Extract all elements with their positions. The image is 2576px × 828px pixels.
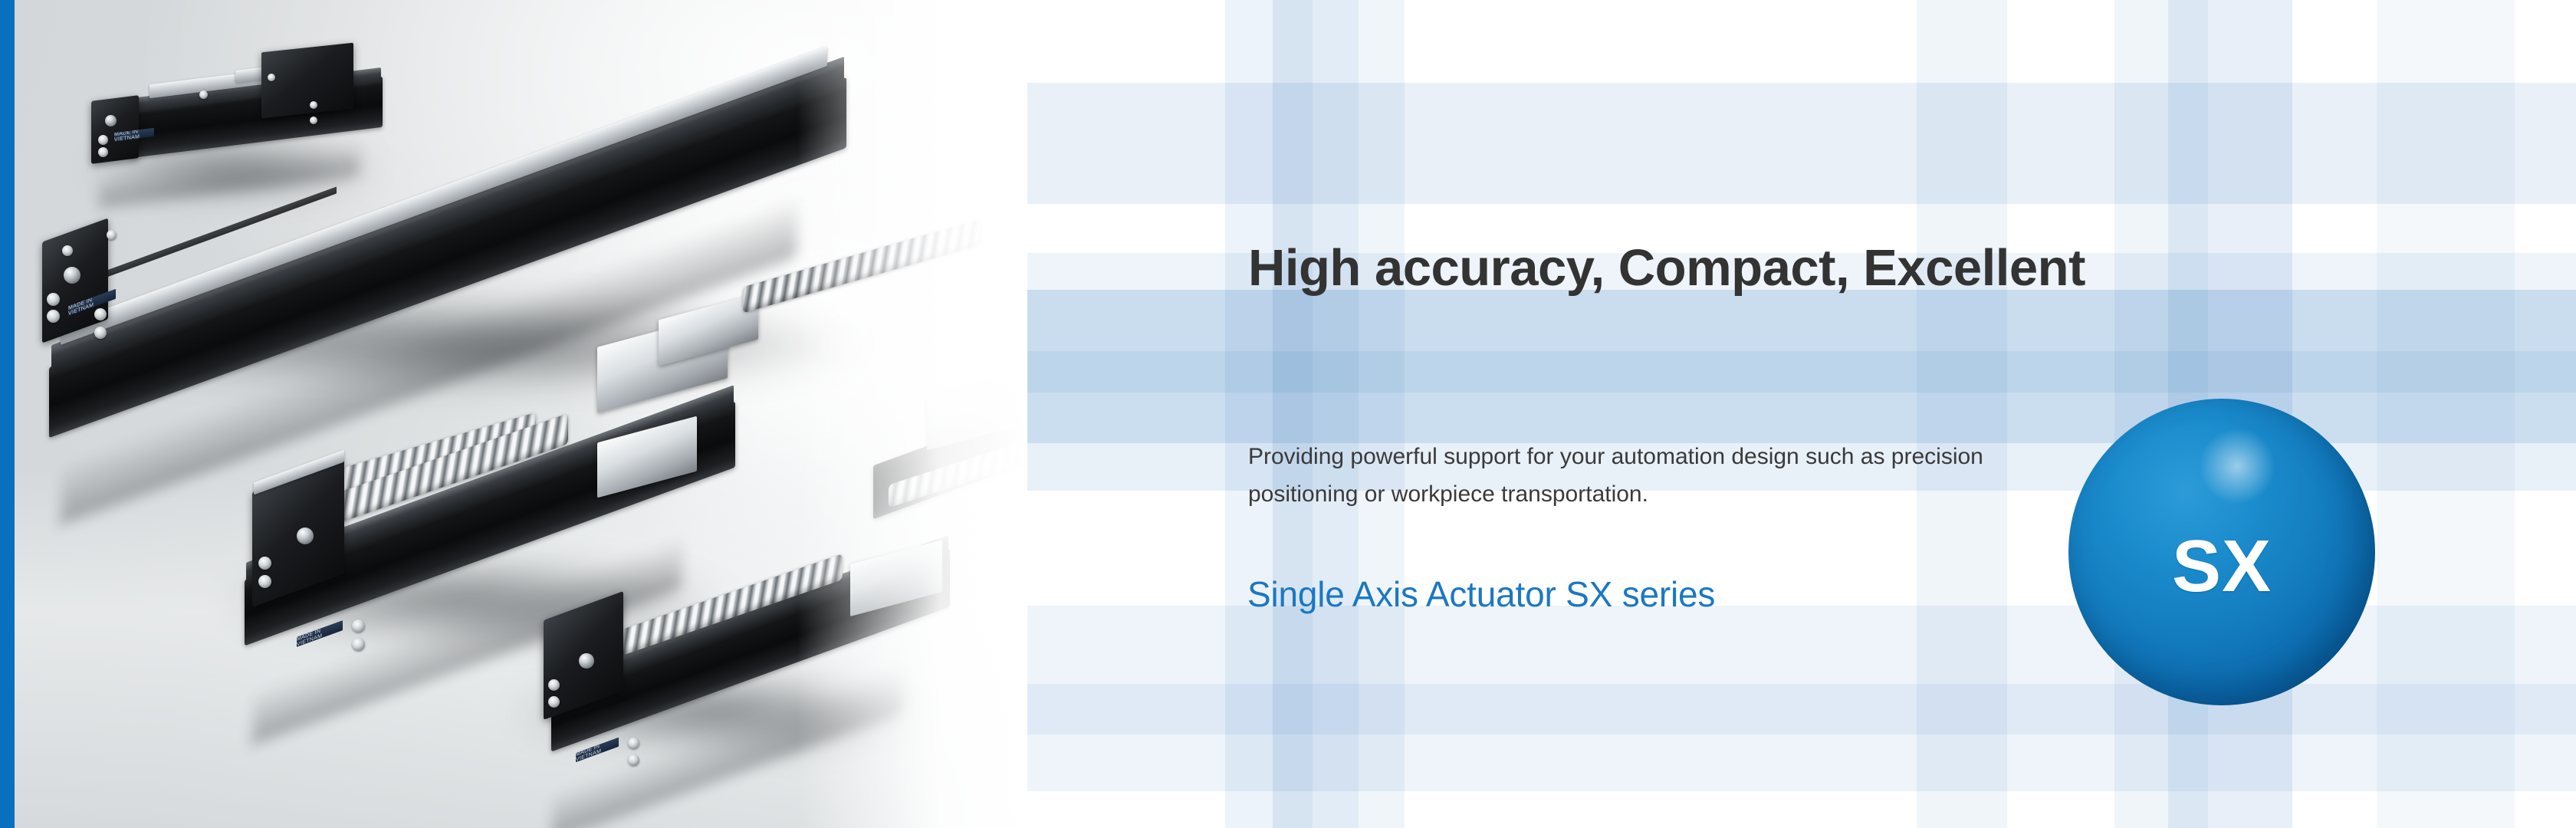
plaid-pattern xyxy=(1027,0,2576,828)
plaid-vertical-band xyxy=(1917,0,2007,828)
photo-right-fade xyxy=(797,0,1027,828)
product-series-link[interactable]: Single Axis Actuator SX series xyxy=(1247,573,1715,615)
plaid-vertical-band xyxy=(1313,0,1359,828)
plaid-vertical-band xyxy=(2377,0,2515,828)
sx-badge-label: SX xyxy=(2172,524,2272,609)
description-text: Providing powerful support for your auto… xyxy=(1248,439,1984,513)
product-photo: MADE IN VIETNAM MADE IN VIETNAM xyxy=(15,0,1027,828)
plaid-vertical-band xyxy=(1359,0,1405,828)
left-accent-bar xyxy=(0,0,15,828)
plaid-vertical-band xyxy=(1225,0,1273,828)
sx-badge: SX xyxy=(2068,399,2375,705)
page-title: High accuracy, Compact, Excellent xyxy=(1248,235,2091,301)
plaid-vertical-band xyxy=(1273,0,1313,828)
product-banner: MADE IN VIETNAM MADE IN VIETNAM xyxy=(0,0,2576,828)
content-panel: High accuracy, Compact, Excellent Provid… xyxy=(1027,0,2576,828)
